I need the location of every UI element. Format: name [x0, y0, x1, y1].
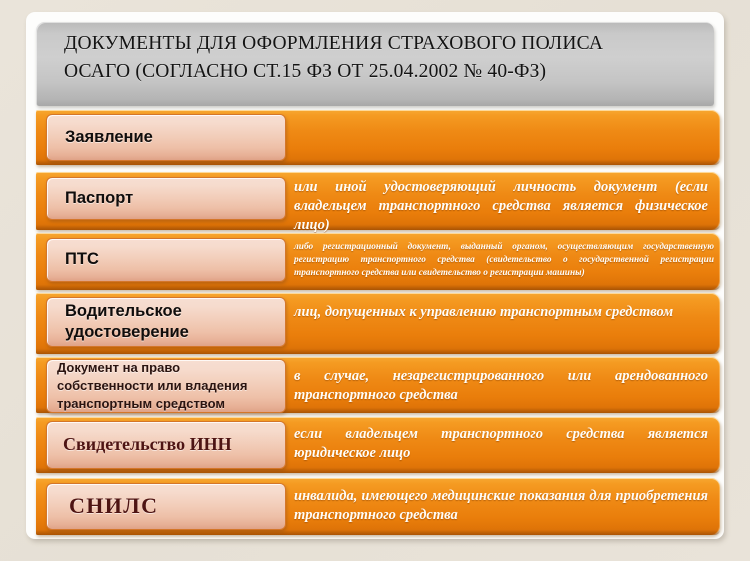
row-label-plate: Свидетельство ИНН	[46, 421, 286, 469]
page-title-line-1: ДОКУМЕНТЫ ДЛЯ ОФОРМЛЕНИЯ СТРАХОВОГО ПОЛИ…	[64, 30, 698, 58]
page-title: ДОКУМЕНТЫ ДЛЯ ОФОРМЛЕНИЯ СТРАХОВОГО ПОЛИ…	[64, 30, 698, 85]
row-label-plate: Заявление	[46, 114, 286, 161]
row-label-plate: Паспорт	[46, 177, 286, 220]
row-description: лиц, допущенных к управлению транспортны…	[294, 303, 708, 322]
row-description: или иной удостоверяющий личность докумен…	[294, 178, 708, 235]
row-label: СНИЛС	[47, 492, 285, 521]
title-panel: ДОКУМЕНТЫ ДЛЯ ОФОРМЛЕНИЯ СТРАХОВОГО ПОЛИ…	[36, 22, 714, 106]
row-description: инвалида, имеющего медицинские показания…	[294, 487, 708, 525]
row-label: Заявление	[47, 127, 285, 148]
row-label-plate: Документ на право собственности или влад…	[46, 359, 286, 413]
slide-canvas: ДОКУМЕНТЫ ДЛЯ ОФОРМЛЕНИЯ СТРАХОВОГО ПОЛИ…	[0, 0, 750, 561]
row-label: ПТС	[47, 249, 285, 270]
row-label: Паспорт	[47, 188, 285, 209]
row-description: либо регистрационный документ, выданный …	[294, 241, 714, 279]
document-list: Заявление Паспорт или иной удостоверяющи…	[36, 110, 724, 535]
row-label-plate: СНИЛС	[46, 483, 286, 530]
row-label: Документ на право собственности или влад…	[47, 359, 285, 413]
row-label-plate: ПТС	[46, 238, 286, 282]
row-label: Свидетельство ИНН	[47, 433, 285, 456]
page-title-line-2: ОСАГО (СОГЛАСНО СТ.15 ФЗ ОТ 25.04.2002 №…	[64, 58, 698, 86]
row-description: в случае, незарегистрированного или арен…	[294, 367, 708, 405]
row-description: если владельцем транспортного средства я…	[294, 425, 708, 463]
row-label: Водительское удостоверение	[47, 301, 285, 344]
row-label-plate: Водительское удостоверение	[46, 297, 286, 347]
